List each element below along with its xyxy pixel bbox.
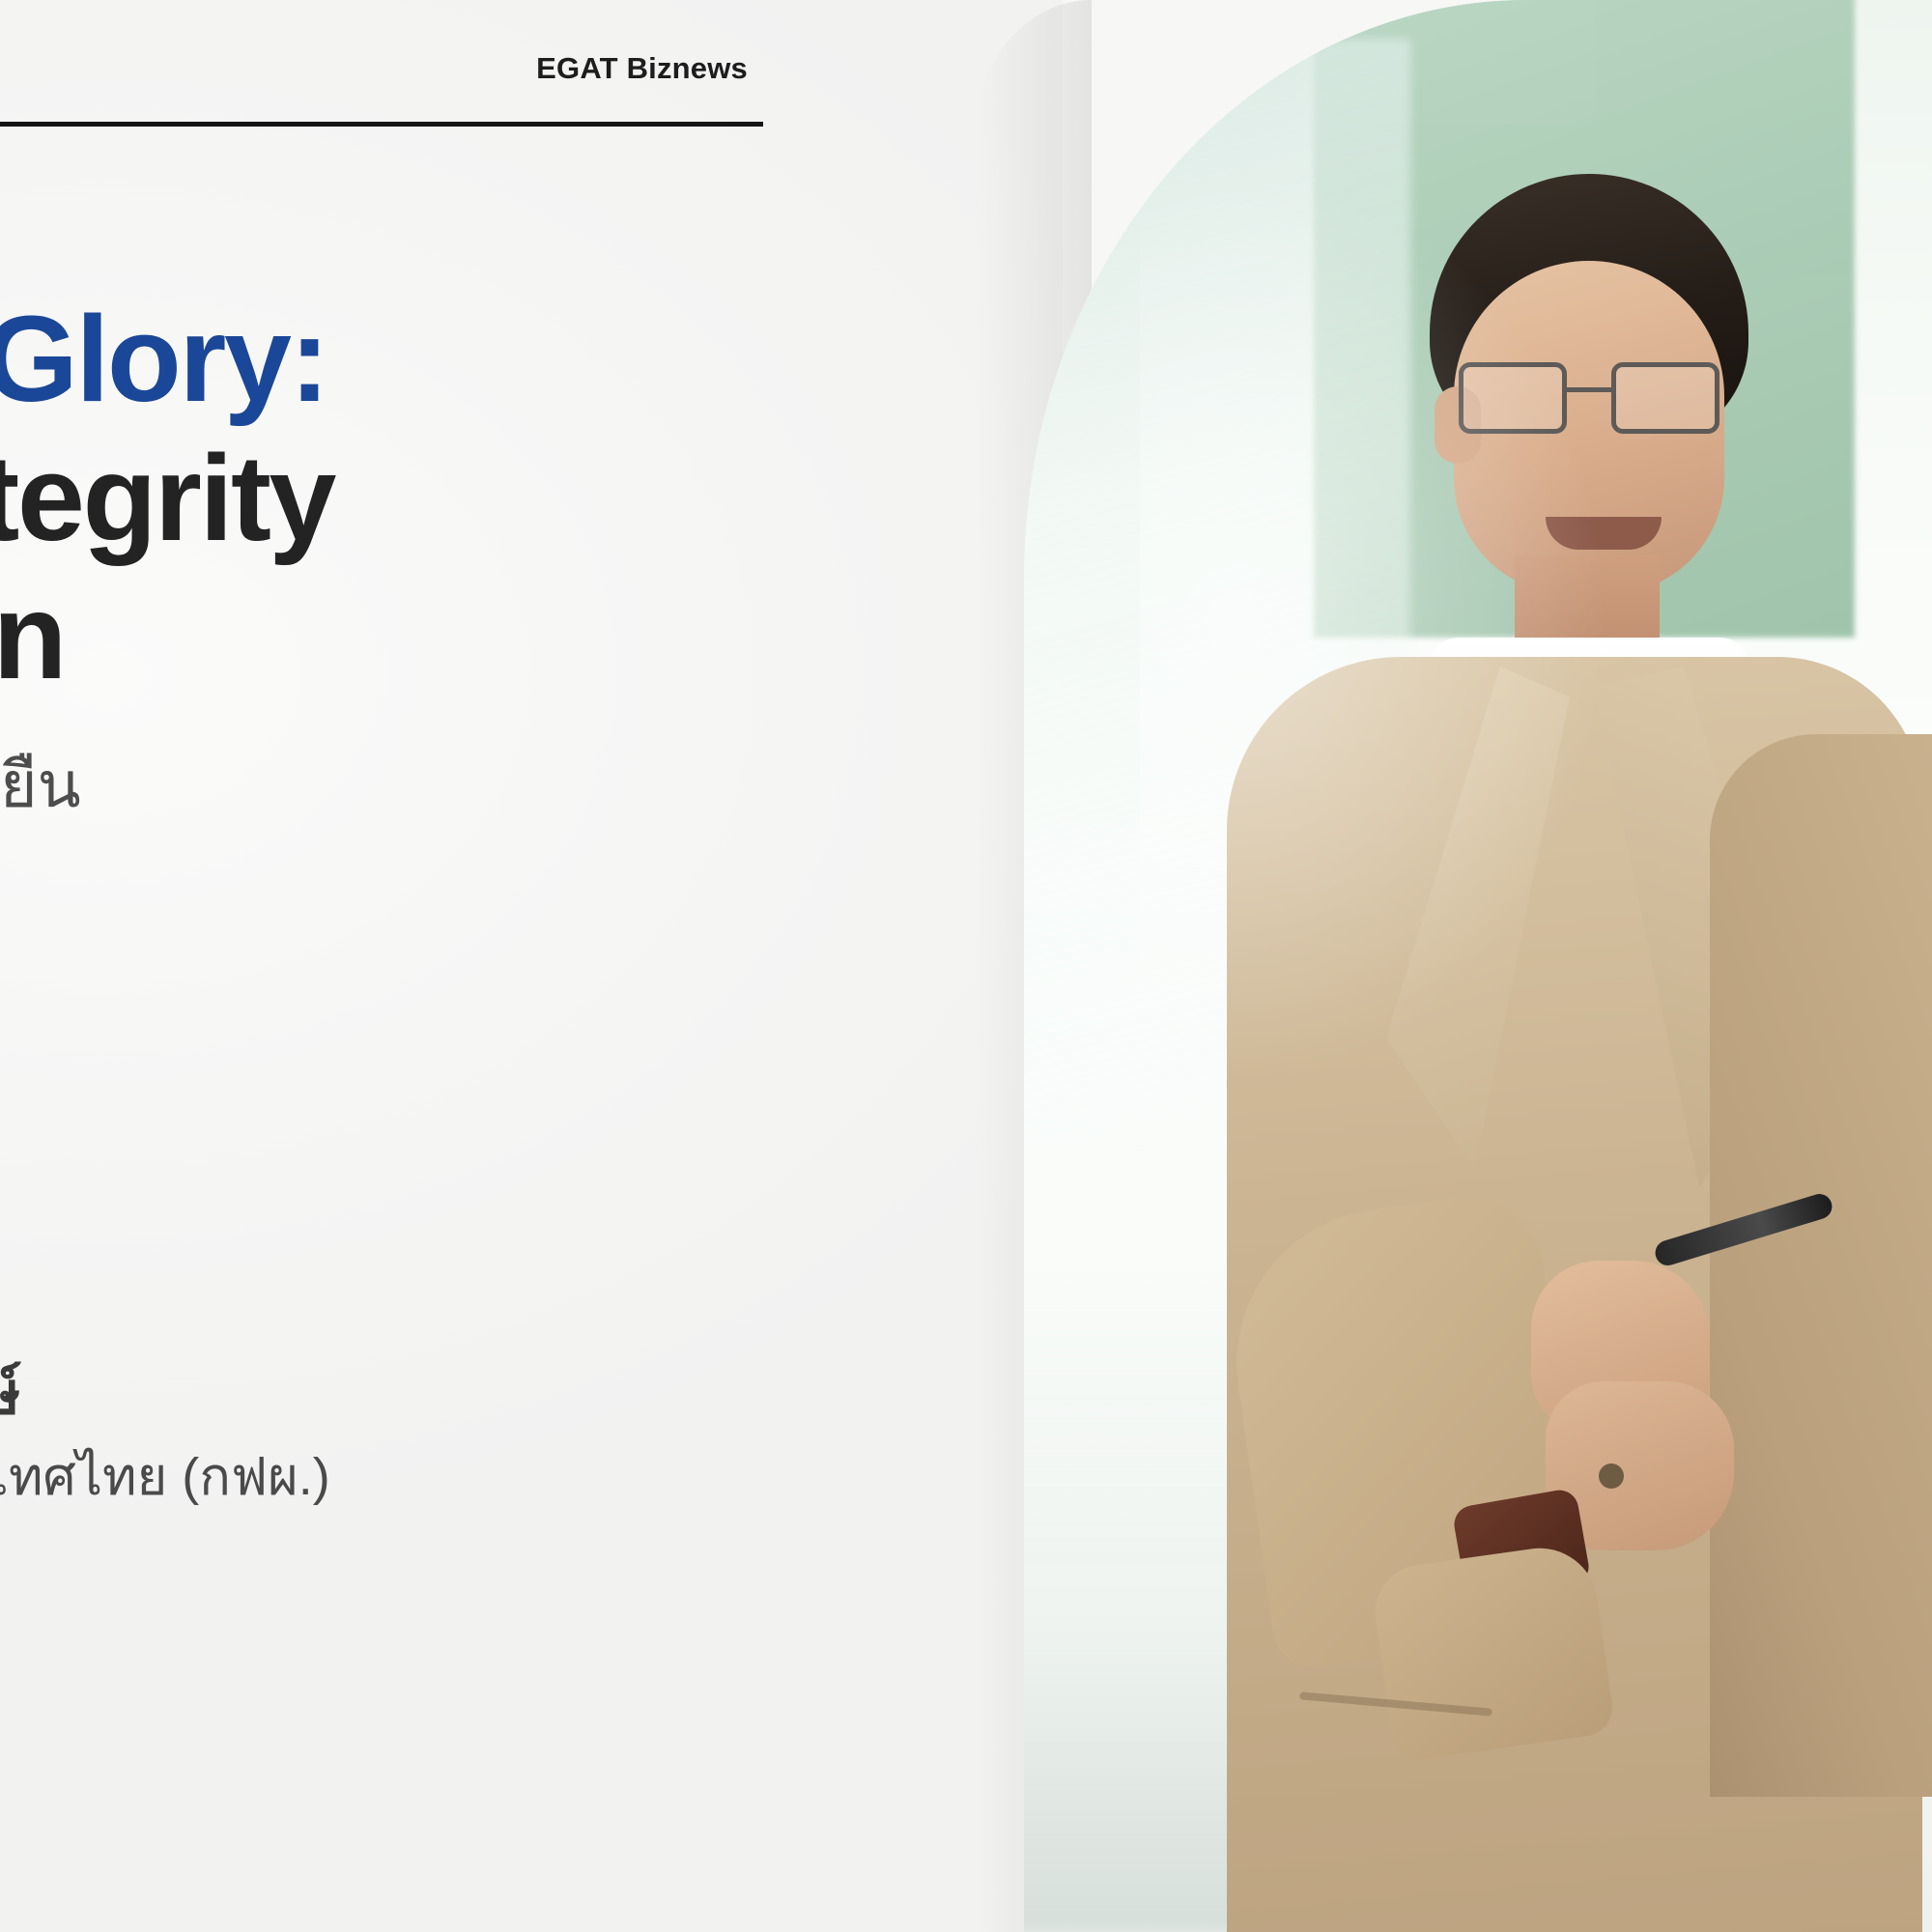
egat-biznews-banner: EGAT Biznews th to Glory: nd Integrity A… [0, 0, 1932, 1932]
speaker-block: ตน์ เทพพิทักษ์ ยผลิตแห่งประเทศไทย (กฟผ.) [0, 1357, 840, 1511]
left-content-panel: EGAT Biznews th to Glory: nd Integrity A… [0, 0, 1063, 1932]
thai-subtitle: พลังงานที่ยั่งยืน [0, 734, 826, 836]
publication-label: EGAT Biznews [0, 53, 763, 83]
headline-line-3: Action [0, 567, 782, 706]
header-divider [0, 122, 763, 127]
speaker-organization: ยผลิตแห่งประเทศไทย (กฟผ.) [0, 1443, 840, 1511]
jacket-cuff [1369, 1541, 1616, 1763]
mouth-smile [1546, 517, 1662, 550]
right-arm [1710, 734, 1932, 1797]
eyeglasses [1459, 362, 1719, 434]
speaker-name: ตน์ เทพพิทักษ์ [0, 1357, 840, 1430]
headline-line-2: nd Integrity [0, 429, 782, 568]
headline-line-1: th to Glory: [0, 290, 782, 429]
portrait-photo [1024, 0, 1932, 1932]
subject-person [1140, 116, 1932, 1932]
jacket-button [1599, 1463, 1624, 1489]
headline: th to Glory: nd Integrity Action [0, 290, 782, 706]
header: EGAT Biznews [0, 53, 763, 127]
